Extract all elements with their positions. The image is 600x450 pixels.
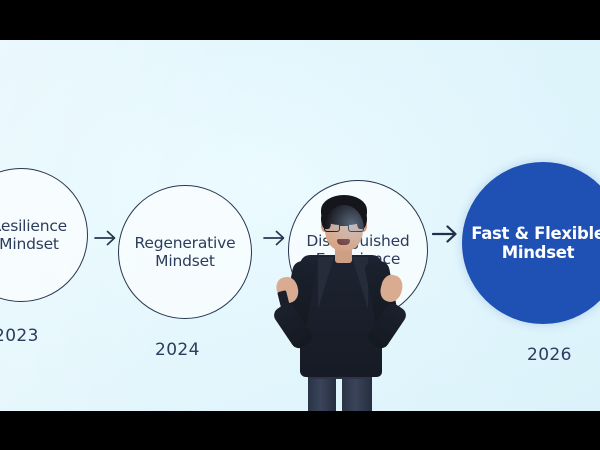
timeline-year-2026: 2026 <box>527 345 572 365</box>
letterbox-bar-bottom <box>0 411 600 450</box>
speaker-figure <box>280 175 410 411</box>
speaker-hair-side-left <box>321 209 331 229</box>
arrow-right-icon <box>432 222 462 250</box>
eyeglass-bridge <box>340 225 348 226</box>
arrow-right-icon <box>94 228 120 252</box>
timeline-year-2023: 2023 <box>0 326 39 346</box>
timeline-node-label: Regenerative Mindset <box>135 234 236 271</box>
speaker-hair-side-right <box>357 209 367 229</box>
timeline-node-fast-flexible-mindset: Fast & Flexible Mindset <box>462 162 600 324</box>
timeline-node-resilience-mindset: Resilience Mindset <box>0 168 88 302</box>
timeline-node-label: Fast & Flexible Mindset <box>471 224 600 263</box>
speaker-mouth <box>337 239 350 245</box>
timeline-node-regenerative-mindset: Regenerative Mindset <box>118 185 252 319</box>
presentation-slide: Resilience Mindset Regenerative Mindset … <box>0 40 600 411</box>
timeline-year-2024: 2024 <box>155 340 200 360</box>
timeline-node-label: Resilience Mindset <box>0 217 67 254</box>
screenshot-stage: Resilience Mindset Regenerative Mindset … <box>0 0 600 450</box>
speaker-lapel-left <box>318 257 334 309</box>
letterbox-bar-top <box>0 0 600 40</box>
